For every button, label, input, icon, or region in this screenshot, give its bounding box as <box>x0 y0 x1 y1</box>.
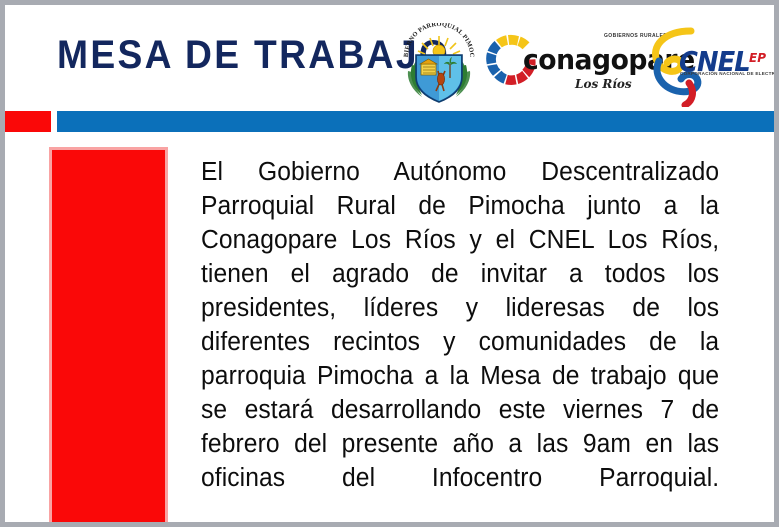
conagopare-logo: GOBIERNOS RURALES conagopare Los Ríos <box>483 29 651 101</box>
accent-bar-blue <box>57 111 774 132</box>
gad-parroquial-pimocha-seal-icon: GOBIERNO PARROQUIAL PIMOCHA <box>400 23 478 105</box>
logo-row: GOBIERNO PARROQUIAL PIMOCHA <box>395 13 774 109</box>
invitation-paragraph: El Gobierno Autónomo Descentralizado Par… <box>201 155 719 527</box>
slide-header: MESA DE TRABAJO GOBIERNO PARROQUIAL PIMO… <box>5 5 774 109</box>
slide-canvas: MESA DE TRABAJO GOBIERNO PARROQUIAL PIMO… <box>0 0 779 527</box>
cnel-ep-suffix: EP <box>749 51 766 65</box>
accent-bar-red <box>5 111 51 132</box>
cnel-subtitle: CORPORACIÓN NACIONAL DE ELECTRICIDAD <box>680 71 779 76</box>
cnel-ep-logo: CNEL EP CORPORACIÓN NACIONAL DE ELECTRIC… <box>647 21 773 107</box>
conagopare-tagline: Los Ríos <box>575 77 632 91</box>
red-image-placeholder-panel <box>49 147 168 527</box>
page-title: MESA DE TRABAJO <box>57 33 450 78</box>
